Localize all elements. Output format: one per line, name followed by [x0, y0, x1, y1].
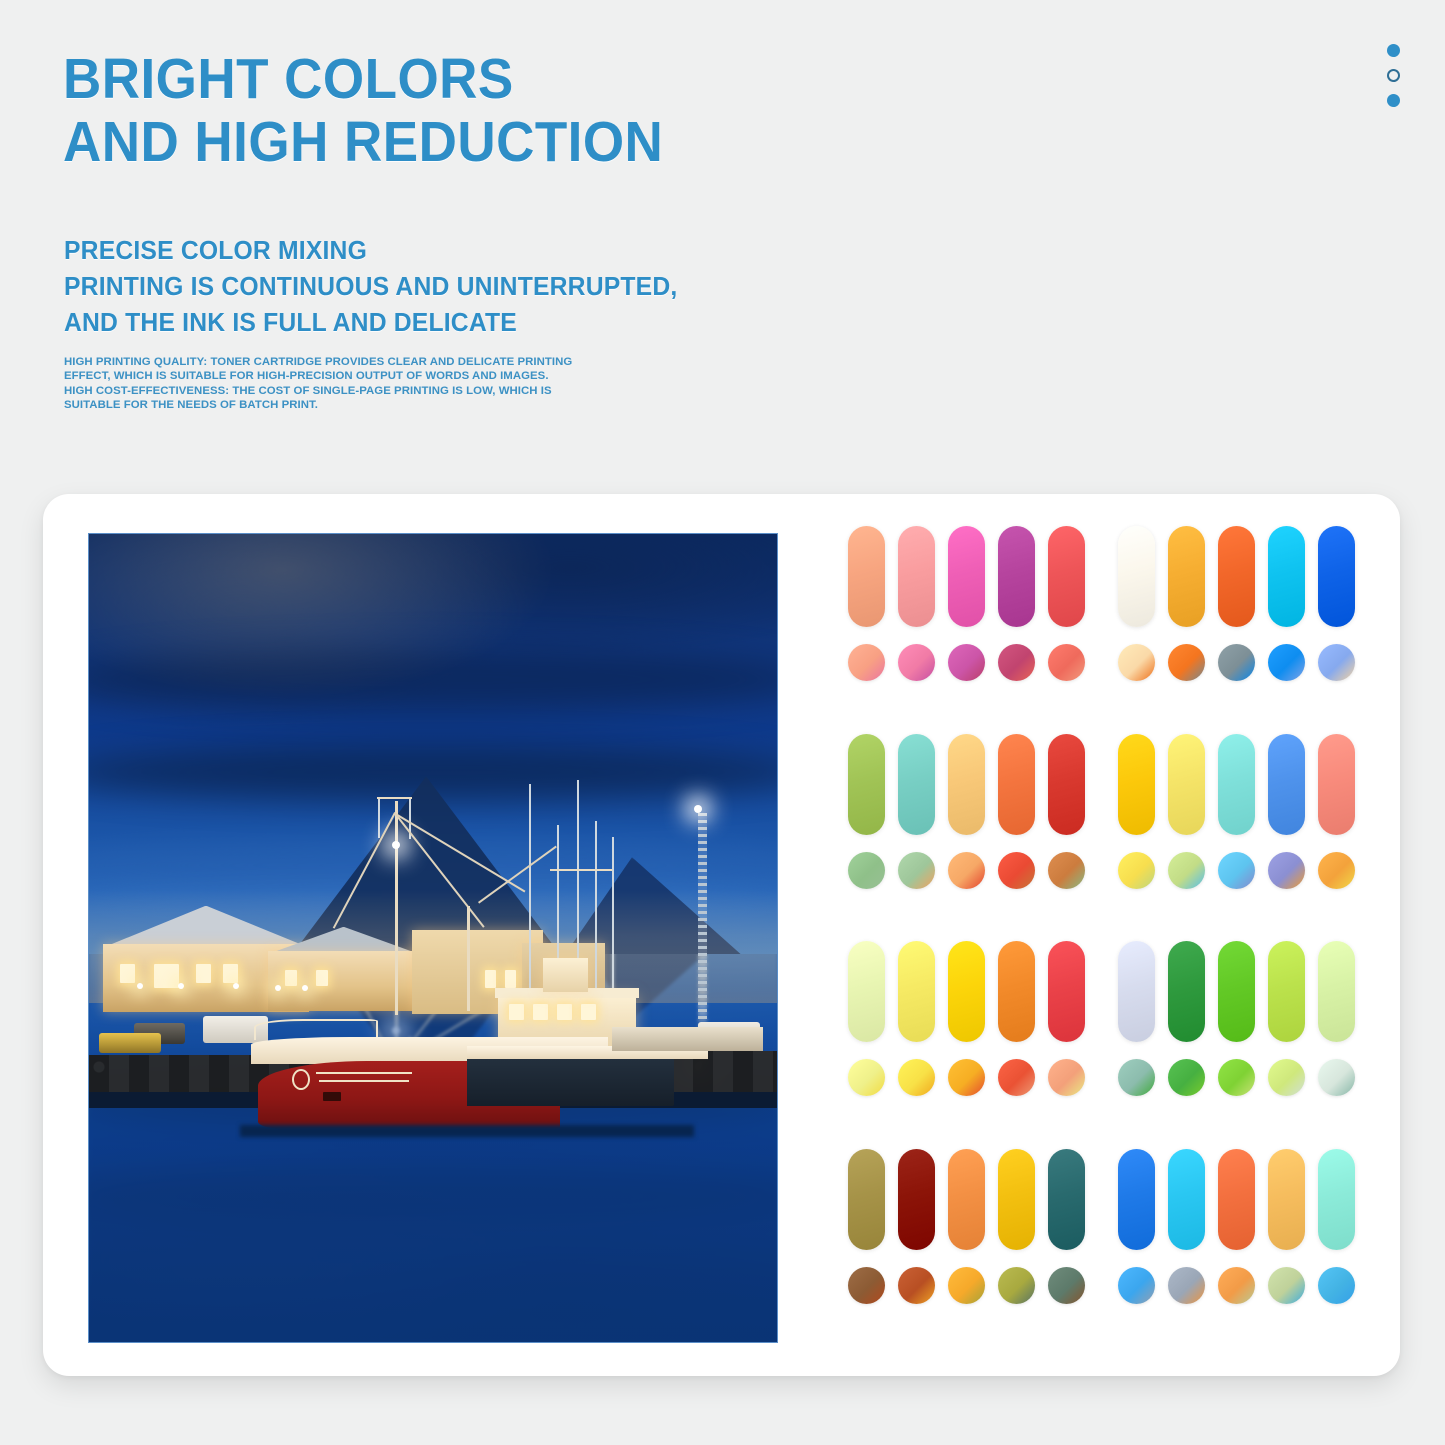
body-line-1: HIGH PRINTING QUALITY: TONER CARTRIDGE P… — [64, 355, 604, 369]
color-pill[interactable] — [848, 734, 885, 835]
color-pill[interactable] — [1048, 734, 1085, 835]
decorative-dots — [1387, 44, 1400, 107]
color-pill[interactable] — [1268, 941, 1305, 1042]
color-dot[interactable] — [1168, 1267, 1205, 1304]
color-dot[interactable] — [1268, 644, 1305, 681]
color-dot[interactable] — [948, 852, 985, 889]
color-pill[interactable] — [898, 734, 935, 835]
window-light — [223, 964, 238, 983]
palette-pill-row — [1118, 1149, 1388, 1250]
boat-mast-aft — [529, 784, 531, 1010]
page-title: BRIGHT COLORS AND HIGH REDUCTION — [63, 48, 663, 174]
palette-dot-row — [1118, 644, 1388, 681]
palette-pill-row — [848, 941, 1118, 1042]
color-pill[interactable] — [1168, 1149, 1205, 1250]
hull-side-dark — [467, 1056, 673, 1106]
color-pill[interactable] — [1168, 941, 1205, 1042]
color-pill[interactable] — [948, 941, 985, 1042]
palette-dot-row — [848, 644, 1118, 681]
color-dot[interactable] — [1168, 1059, 1205, 1096]
color-dot[interactable] — [1048, 1059, 1085, 1096]
harbor-photo — [88, 533, 778, 1343]
window-light — [285, 970, 297, 986]
color-pill[interactable] — [1218, 734, 1255, 835]
palette-pill-row — [1118, 941, 1388, 1042]
boat-antenna — [612, 837, 614, 1011]
window-light — [316, 970, 328, 986]
color-dot[interactable] — [1048, 852, 1085, 889]
group-green-teal-coral — [848, 726, 1118, 934]
color-dot[interactable] — [1218, 1267, 1255, 1304]
color-pill[interactable] — [998, 941, 1035, 1042]
group-lavender-greens — [1118, 933, 1388, 1141]
window-light — [120, 964, 135, 983]
palette-dot-row — [848, 852, 1118, 889]
bulwark-rail — [612, 1027, 763, 1051]
color-pill[interactable] — [1318, 941, 1355, 1042]
dot-filled-bottom-icon — [1387, 94, 1400, 107]
subtitle-line-3: AND THE INK IS FULL AND DELICATE — [64, 304, 677, 340]
color-pill[interactable] — [848, 526, 885, 627]
color-dot[interactable] — [1118, 852, 1155, 889]
harbor-light-tower — [698, 813, 707, 1019]
crossbeam — [377, 797, 413, 799]
palette-pill-row — [1118, 526, 1388, 627]
color-pill[interactable] — [998, 1149, 1035, 1250]
color-dot[interactable] — [848, 852, 885, 889]
color-pill[interactable] — [898, 1149, 935, 1250]
color-dot[interactable] — [948, 1267, 985, 1304]
palette-dot-row — [848, 1059, 1118, 1096]
group-olive-maroon-amber-teal — [848, 1141, 1118, 1349]
color-dot[interactable] — [948, 644, 985, 681]
color-pill[interactable] — [1218, 1149, 1255, 1250]
color-palette — [848, 518, 1388, 1348]
color-pill[interactable] — [1168, 734, 1205, 835]
color-pill[interactable] — [1268, 734, 1305, 835]
color-dot[interactable] — [1118, 644, 1155, 681]
mast-antenna — [378, 797, 380, 837]
color-pill[interactable] — [1118, 1149, 1155, 1250]
color-pill[interactable] — [1318, 1149, 1355, 1250]
color-dot[interactable] — [998, 644, 1035, 681]
palette-grid — [848, 518, 1388, 1348]
color-dot[interactable] — [898, 644, 935, 681]
color-pill[interactable] — [898, 526, 935, 627]
body-line-2: EFFECT, WHICH IS SUITABLE FOR HIGH-PRECI… — [64, 369, 604, 383]
window-light — [505, 970, 516, 988]
color-dot[interactable] — [998, 1059, 1035, 1096]
street-lamp — [275, 985, 281, 991]
color-pill[interactable] — [898, 941, 935, 1042]
color-pill[interactable] — [1048, 526, 1085, 627]
color-dot[interactable] — [1118, 1267, 1155, 1304]
wheelhouse-window — [557, 1004, 572, 1020]
color-pill[interactable] — [1318, 734, 1355, 835]
palette-pill-row — [848, 1149, 1118, 1250]
color-pill[interactable] — [1118, 941, 1155, 1042]
color-dot[interactable] — [1168, 644, 1205, 681]
title-line-1: BRIGHT COLORS — [63, 47, 514, 111]
group-lime-yellow-orange-red — [848, 933, 1118, 1141]
color-dot[interactable] — [998, 1267, 1035, 1304]
parked-truck — [99, 1033, 161, 1052]
subtitle-line-2: PRINTING IS CONTINUOUS AND UNINTERRUPTED… — [64, 268, 677, 304]
color-dot[interactable] — [1218, 852, 1255, 889]
body-copy: HIGH PRINTING QUALITY: TONER CARTRIDGE P… — [64, 355, 604, 412]
mast-house — [543, 958, 588, 992]
waterline-shadow — [240, 1125, 694, 1136]
window-light — [154, 964, 179, 988]
color-dot[interactable] — [998, 852, 1035, 889]
color-pill[interactable] — [1218, 526, 1255, 627]
color-pill[interactable] — [1318, 526, 1355, 627]
color-dot[interactable] — [1048, 644, 1085, 681]
boat-mast-main — [395, 801, 398, 1015]
photo-scene — [89, 534, 777, 1342]
color-pill[interactable] — [998, 734, 1035, 835]
palette-pill-row — [1118, 734, 1388, 835]
color-dot[interactable] — [1218, 1059, 1255, 1096]
bow-stripe — [319, 1080, 408, 1082]
hull-porthole — [323, 1092, 341, 1102]
water-glow — [89, 534, 777, 712]
palette-dot-row — [1118, 1267, 1388, 1304]
page-subtitle: PRECISE COLOR MIXING PRINTING IS CONTINU… — [64, 232, 677, 340]
color-pill[interactable] — [1118, 526, 1155, 627]
color-pill[interactable] — [1048, 941, 1085, 1042]
color-dot[interactable] — [898, 1059, 935, 1096]
mast-light — [392, 841, 400, 849]
dot-filled-top-icon — [1387, 44, 1400, 57]
group-yellow-aqua-blue-salmon — [1118, 726, 1388, 934]
wheelhouse-window — [533, 1004, 548, 1020]
color-dot[interactable] — [1318, 1059, 1355, 1096]
color-pill[interactable] — [848, 1149, 885, 1250]
color-dot[interactable] — [1168, 852, 1205, 889]
color-pill[interactable] — [1168, 526, 1205, 627]
color-dot[interactable] — [1048, 1267, 1085, 1304]
color-pill[interactable] — [1218, 941, 1255, 1042]
color-pill[interactable] — [848, 941, 885, 1042]
wheelhouse-window — [509, 1004, 524, 1020]
color-pill[interactable] — [948, 734, 985, 835]
color-pill[interactable] — [1268, 1149, 1305, 1250]
window-light — [196, 964, 211, 983]
color-dot[interactable] — [1118, 1059, 1155, 1096]
group-cream-orange-blue — [1118, 518, 1388, 726]
bow-stripe — [316, 1072, 412, 1074]
color-pill[interactable] — [1118, 734, 1155, 835]
content-card — [43, 494, 1400, 1376]
palette-pill-row — [848, 526, 1118, 627]
color-dot[interactable] — [1318, 644, 1355, 681]
color-dot[interactable] — [1268, 1059, 1305, 1096]
subtitle-line-1: PRECISE COLOR MIXING — [64, 232, 677, 268]
color-dot[interactable] — [898, 852, 935, 889]
color-dot[interactable] — [1268, 1267, 1305, 1304]
color-pill[interactable] — [948, 526, 985, 627]
palette-dot-row — [848, 1267, 1118, 1304]
boom — [467, 906, 470, 1011]
palette-pill-row — [848, 734, 1118, 835]
color-dot[interactable] — [948, 1059, 985, 1096]
color-pill[interactable] — [1048, 1149, 1085, 1250]
color-dot[interactable] — [848, 644, 885, 681]
color-dot[interactable] — [1318, 1267, 1355, 1304]
wheelhouse-window — [581, 1004, 596, 1020]
color-dot[interactable] — [898, 1267, 935, 1304]
window-light — [485, 970, 496, 988]
color-pill[interactable] — [1268, 526, 1305, 627]
color-dot[interactable] — [848, 1059, 885, 1096]
color-pill[interactable] — [998, 526, 1035, 627]
body-line-3: HIGH COST-EFFECTIVENESS: THE COST OF SIN… — [64, 384, 604, 398]
mast-crosstree — [550, 869, 612, 871]
body-line-4: SUITABLE FOR THE NEEDS OF BATCH PRINT. — [64, 398, 604, 412]
title-line-2: AND HIGH REDUCTION — [63, 111, 663, 174]
palette-dot-row — [1118, 1059, 1388, 1096]
group-pink-magenta — [848, 518, 1118, 726]
color-dot[interactable] — [848, 1267, 885, 1304]
color-dot[interactable] — [1218, 644, 1255, 681]
color-dot[interactable] — [1268, 852, 1305, 889]
bow-emblem — [292, 1069, 310, 1090]
color-pill[interactable] — [948, 1149, 985, 1250]
palette-dot-row — [1118, 852, 1388, 889]
poster-page: BRIGHT COLORS AND HIGH REDUCTION PRECISE… — [0, 0, 1445, 1445]
color-dot[interactable] — [1318, 852, 1355, 889]
dot-hollow-middle-icon — [1387, 69, 1400, 82]
group-blue-cyan-orange-aqua — [1118, 1141, 1388, 1349]
boat-antenna — [595, 821, 597, 1011]
